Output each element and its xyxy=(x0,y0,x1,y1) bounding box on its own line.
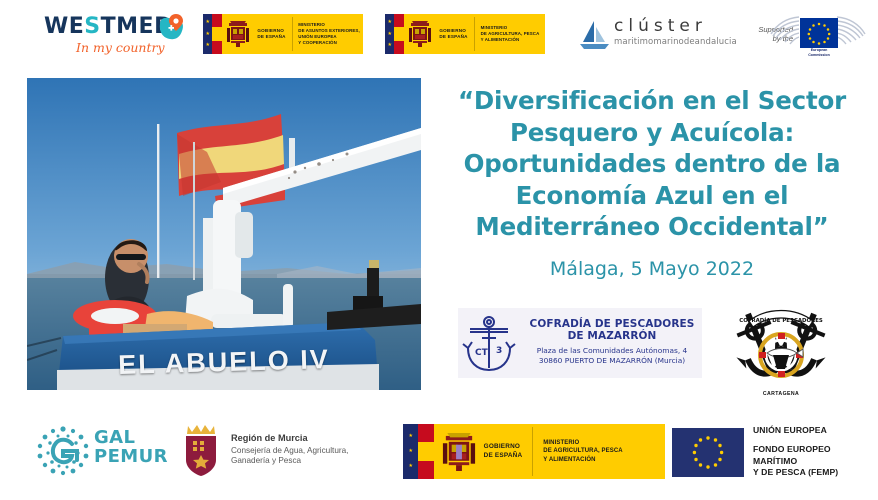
title-line-3: Oportunidades dentro de la xyxy=(437,148,867,180)
cofradia-name: COFRADÍA DE PESCADORES DE MAZARRÓN xyxy=(522,319,702,343)
title-line-2: Pesquero y Acuícola: xyxy=(437,117,867,149)
logo-text-group: GOBIERNODE ESPAÑA MINISTERIODE ASUNTOS E… xyxy=(251,14,363,54)
femp-text-block: UNIÓN EUROPEA FONDO EUROPEO MARÍTIMO Y D… xyxy=(744,425,877,478)
cartagena-caption: CARTAGENA xyxy=(733,391,829,397)
murcia-text-block: Región de Murcia Consejería de Agua, Agr… xyxy=(222,433,395,468)
gobierno-de-espana-label: GOBIERNODE ESPAÑA xyxy=(484,443,523,460)
ministerio-mapa-label: MINISTERIODE AGRICULTURA, PESCAY ALIMENT… xyxy=(481,25,540,43)
cofradia-name-line2: DE MAZARRÓN xyxy=(568,330,657,342)
union-europea-label: UNIÓN EUROPEA xyxy=(753,425,877,435)
title-line-5: Mediterráneo Occidental” xyxy=(437,211,867,243)
cofradia-cartagena-seal: COFRADÍA DE PESCADORES CARTAGENA xyxy=(733,303,829,399)
eu-stars-strip: ★★★ xyxy=(385,14,394,54)
cluster-maritimo-logo: clúster maritimomarinodeandalucia xyxy=(578,14,728,56)
spain-coat-of-arms-icon xyxy=(407,14,433,54)
cofradia-text-block: COFRADÍA DE PESCADORES DE MAZARRÓN Plaza… xyxy=(520,319,702,367)
murcia-subtitle-line2: Ganadería y Pesca xyxy=(231,456,301,465)
svg-text:CT: CT xyxy=(475,348,489,358)
cluster-wordmark: clúster xyxy=(614,16,707,36)
westmed-fish-s-icon: S xyxy=(84,14,100,39)
logo-gobierno-espana-mapa-bottom: ★★★ GOBIERNODE ESPAÑA MINISTERIODE xyxy=(403,424,665,479)
spain-flag-stripe: ★★★ xyxy=(385,14,407,54)
spain-flag-stripe: ★★★ xyxy=(203,14,225,54)
logo-divider xyxy=(292,17,293,51)
femp-line1: FONDO EUROPEO MARÍTIMO xyxy=(753,444,831,465)
map-pin-icon xyxy=(154,12,186,44)
westmed-logo: WESTMED In my country xyxy=(44,10,186,60)
european-commission-support-logo: Supportedby the xyxy=(745,12,870,57)
logo-gobierno-espana-maec: ★★★ GOBIERNODE ESP xyxy=(203,14,363,54)
eu-stars-strip: ★★★ xyxy=(403,424,418,479)
gal-pemur-logo: GAL PEMUR xyxy=(36,424,164,476)
cofradia-address-line1: Plaza de las Comunidades Autónomas, 4 xyxy=(537,346,687,355)
murcia-title: Región de Murcia xyxy=(231,433,395,445)
logo-divider xyxy=(532,427,533,476)
cartagena-banner-text: COFRADÍA DE PESCADORES xyxy=(739,316,823,324)
gal-pemur-wordmark: GAL PEMUR xyxy=(94,428,168,467)
region-de-murcia-logo: Región de Murcia Consejería de Agua, Agr… xyxy=(180,420,395,480)
murcia-subtitle-line1: Consejería de Agua, Agricultura, xyxy=(231,446,348,455)
event-poster-slide: WESTMED In my country ★★★ xyxy=(0,0,878,500)
murcia-shield-icon xyxy=(180,422,222,478)
spain-flag-stripe: ★★★ xyxy=(403,424,440,479)
gal-pemur-g-icon xyxy=(36,426,90,476)
cofradia-mazarron-logo: CT 3 COFRADÍA DE PESCADORES DE MAZARRÓN … xyxy=(458,308,702,378)
flag-yellow-band xyxy=(394,27,403,41)
logo-divider xyxy=(474,17,475,51)
eu-flag-icon xyxy=(672,428,744,477)
gal-label: GAL xyxy=(94,427,135,448)
femp-eu-logo: UNIÓN EUROPEA FONDO EUROPEO MARÍTIMO Y D… xyxy=(672,424,877,480)
cofradia-address-line2: 30860 PUERTO DE MAZARRÓN (Murcia) xyxy=(539,356,685,365)
svg-text:3: 3 xyxy=(496,346,502,356)
cofradia-address: Plaza de las Comunidades Autónomas, 4 30… xyxy=(522,346,702,367)
ministerio-maec-label: MINISTERIODE ASUNTOS EXTERIORES, UNIÓN E… xyxy=(298,22,363,46)
spain-coat-of-arms-icon xyxy=(225,14,251,54)
logo-text-group: GOBIERNODE ESPAÑA MINISTERIODE AGRICULTU… xyxy=(433,14,545,54)
event-date-location: Málaga, 5 Mayo 2022 xyxy=(437,258,867,280)
anchor-icon: CT 3 xyxy=(458,311,520,375)
page-title: “Diversificación en el Sector Pesquero y… xyxy=(437,85,867,243)
european-commission-caption: EuropeanCommission xyxy=(800,48,838,57)
logo-text-group: GOBIERNODE ESPAÑA MINISTERIODE AGRICULTU… xyxy=(478,424,665,479)
gobierno-de-espana-label: GOBIERNODE ESPAÑA xyxy=(257,28,285,40)
femp-line2: Y DE PESCA (FEMP) xyxy=(753,467,838,477)
logo-gobierno-espana-mapa-top: ★★★ GOBIERNODE ESP xyxy=(385,14,545,54)
murcia-subtitle: Consejería de Agua, Agricultura, Ganader… xyxy=(231,446,395,468)
flag-yellow-band xyxy=(418,442,433,461)
cofradia-name-line1: COFRADÍA DE PESCADORES xyxy=(530,318,695,330)
title-line-1: “Diversificación en el Sector xyxy=(437,85,867,117)
westmed-tagline: In my country xyxy=(76,40,165,55)
femp-fund-label: FONDO EUROPEO MARÍTIMO Y DE PESCA (FEMP) xyxy=(753,444,877,478)
eu-flag-icon xyxy=(800,18,838,48)
ec-fan-right-icon xyxy=(837,16,867,50)
ministerio-mapa-label: MINISTERIODE AGRICULTURA, PESCAY ALIMENT… xyxy=(543,439,622,463)
westmed-word-we: WE xyxy=(44,14,84,39)
spain-coat-of-arms-icon xyxy=(440,424,478,479)
pemur-label: PEMUR xyxy=(94,446,168,467)
eu-stars-strip: ★★★ xyxy=(203,14,212,54)
gobierno-de-espana-label: GOBIERNODE ESPAÑA xyxy=(439,28,467,40)
cartagena-seal-icon: COFRADÍA DE PESCADORES xyxy=(733,303,829,399)
fishing-boat-photo: EL ABUELO IV xyxy=(27,78,421,390)
cluster-subtitle: maritimomarinodeandalucia xyxy=(614,37,737,47)
top-logo-bar: WESTMED In my country ★★★ xyxy=(0,0,878,70)
flag-yellow-band xyxy=(212,27,221,41)
sailboat-icon xyxy=(578,18,612,52)
ec-fan-left-icon xyxy=(769,16,799,50)
title-line-4: Economía Azul en el xyxy=(437,180,867,212)
